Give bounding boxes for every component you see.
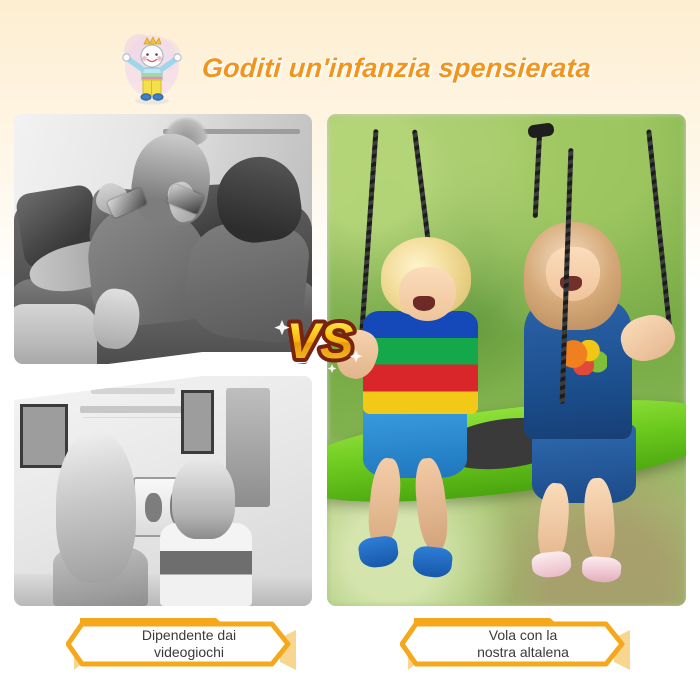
poster-header: Goditi un'infanzia spensierata [0, 28, 700, 108]
photo-teens-on-couch [14, 114, 312, 364]
boy-face [399, 267, 456, 321]
photo-kids-on-swing [327, 114, 686, 606]
boy-mouth [413, 296, 435, 311]
picture-frame [181, 390, 214, 454]
couch-seat-highlight [14, 304, 97, 364]
caption-text-right: Vola con la nostra altalena [400, 618, 646, 670]
boy-hair [172, 457, 235, 540]
comparison-grid [14, 114, 686, 606]
caption-line-2: nostra altalena [477, 644, 569, 661]
caption-line-1: Dipendente dai [142, 627, 236, 644]
happy-child-icon [110, 29, 194, 107]
caption-banner-left: Dipendente dai videogiochi [66, 618, 312, 670]
caption-line-2: videogiochi [154, 644, 224, 661]
caption-line-1: Vola con la [489, 627, 558, 644]
caption-text-left: Dipendente dai videogiochi [66, 618, 312, 670]
wall-shelf [91, 388, 174, 394]
dress-flower-embroidery [564, 340, 607, 374]
product-feature-poster: Goditi un'infanzia spensierata [0, 0, 700, 675]
girl-hair [56, 431, 136, 583]
caption-banner-right: Vola con la nostra altalena [400, 618, 646, 670]
comparison-left-column [14, 114, 312, 606]
girl-face [546, 247, 600, 301]
comparison-right-column [327, 114, 686, 606]
page-title: Goditi un'infanzia spensierata [200, 53, 591, 84]
tv-content [145, 493, 161, 522]
photo-kids-watching-tv [14, 376, 312, 606]
picture-frame [20, 404, 68, 468]
boy-striped-polo [363, 311, 478, 414]
